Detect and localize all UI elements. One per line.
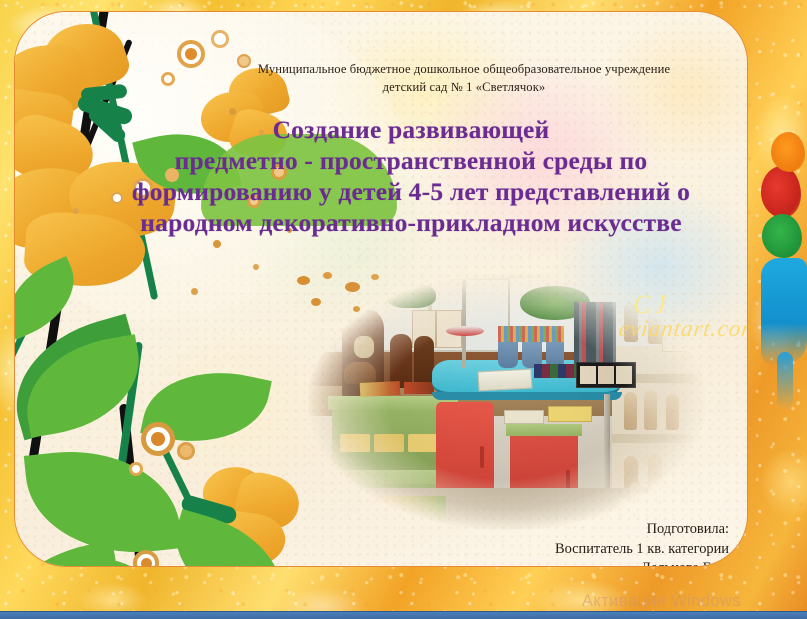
paint-droplet: [191, 288, 198, 295]
organization-line-2: детский сад № 1 «Светлячок»: [151, 79, 748, 97]
leaf-shape: [70, 555, 177, 567]
paint-droplet: [213, 240, 221, 248]
photo-color-tone-overlay: [308, 274, 706, 530]
paint-droplet: [253, 264, 259, 270]
windows-activation-watermark: Активация Windows: [582, 592, 804, 611]
paint-splash-orange: [771, 132, 805, 172]
classroom-environment-photo: [308, 274, 706, 530]
slide-content-panel: CJ eviantart.com Муниципальное бюджетное…: [14, 11, 748, 567]
slide-title: Создание развивающей предметно - простра…: [61, 114, 748, 238]
decorative-ring: [129, 462, 143, 476]
title-line-3: формированию у детей 4-5 лет представлен…: [61, 176, 748, 207]
title-line-2: предметно - пространственной среды по: [61, 145, 748, 176]
decorative-ring: [211, 30, 229, 48]
organization-heading: Муниципальное бюджетное дошкольное общео…: [151, 61, 748, 96]
credits-line-1: Подготовила:: [389, 520, 729, 540]
paint-splash-blue-drip: [777, 352, 793, 410]
paint-splash-red: [761, 166, 801, 218]
organization-line-1: Муниципальное бюджетное дошкольное общео…: [151, 61, 748, 79]
credits-line-3: Дельцова Е.А.: [389, 559, 729, 567]
decorative-ring: [185, 48, 197, 60]
decorative-ring: [151, 432, 165, 446]
title-line-4: народном декоративно-прикладном искусств…: [61, 207, 748, 238]
paint-splash-green: [762, 214, 802, 258]
decorative-ring: [141, 558, 152, 567]
windows-taskbar[interactable]: [0, 611, 807, 619]
decorative-ring: [177, 442, 195, 460]
paint-splash-cyan: [761, 258, 807, 366]
title-line-1: Создание развивающей: [61, 114, 748, 145]
author-credits: Подготовила: Воспитатель 1 кв. категории…: [389, 520, 729, 567]
presentation-slide: CJ eviantart.com Муниципальное бюджетное…: [0, 0, 807, 619]
credits-line-2: Воспитатель 1 кв. категории: [389, 540, 729, 560]
